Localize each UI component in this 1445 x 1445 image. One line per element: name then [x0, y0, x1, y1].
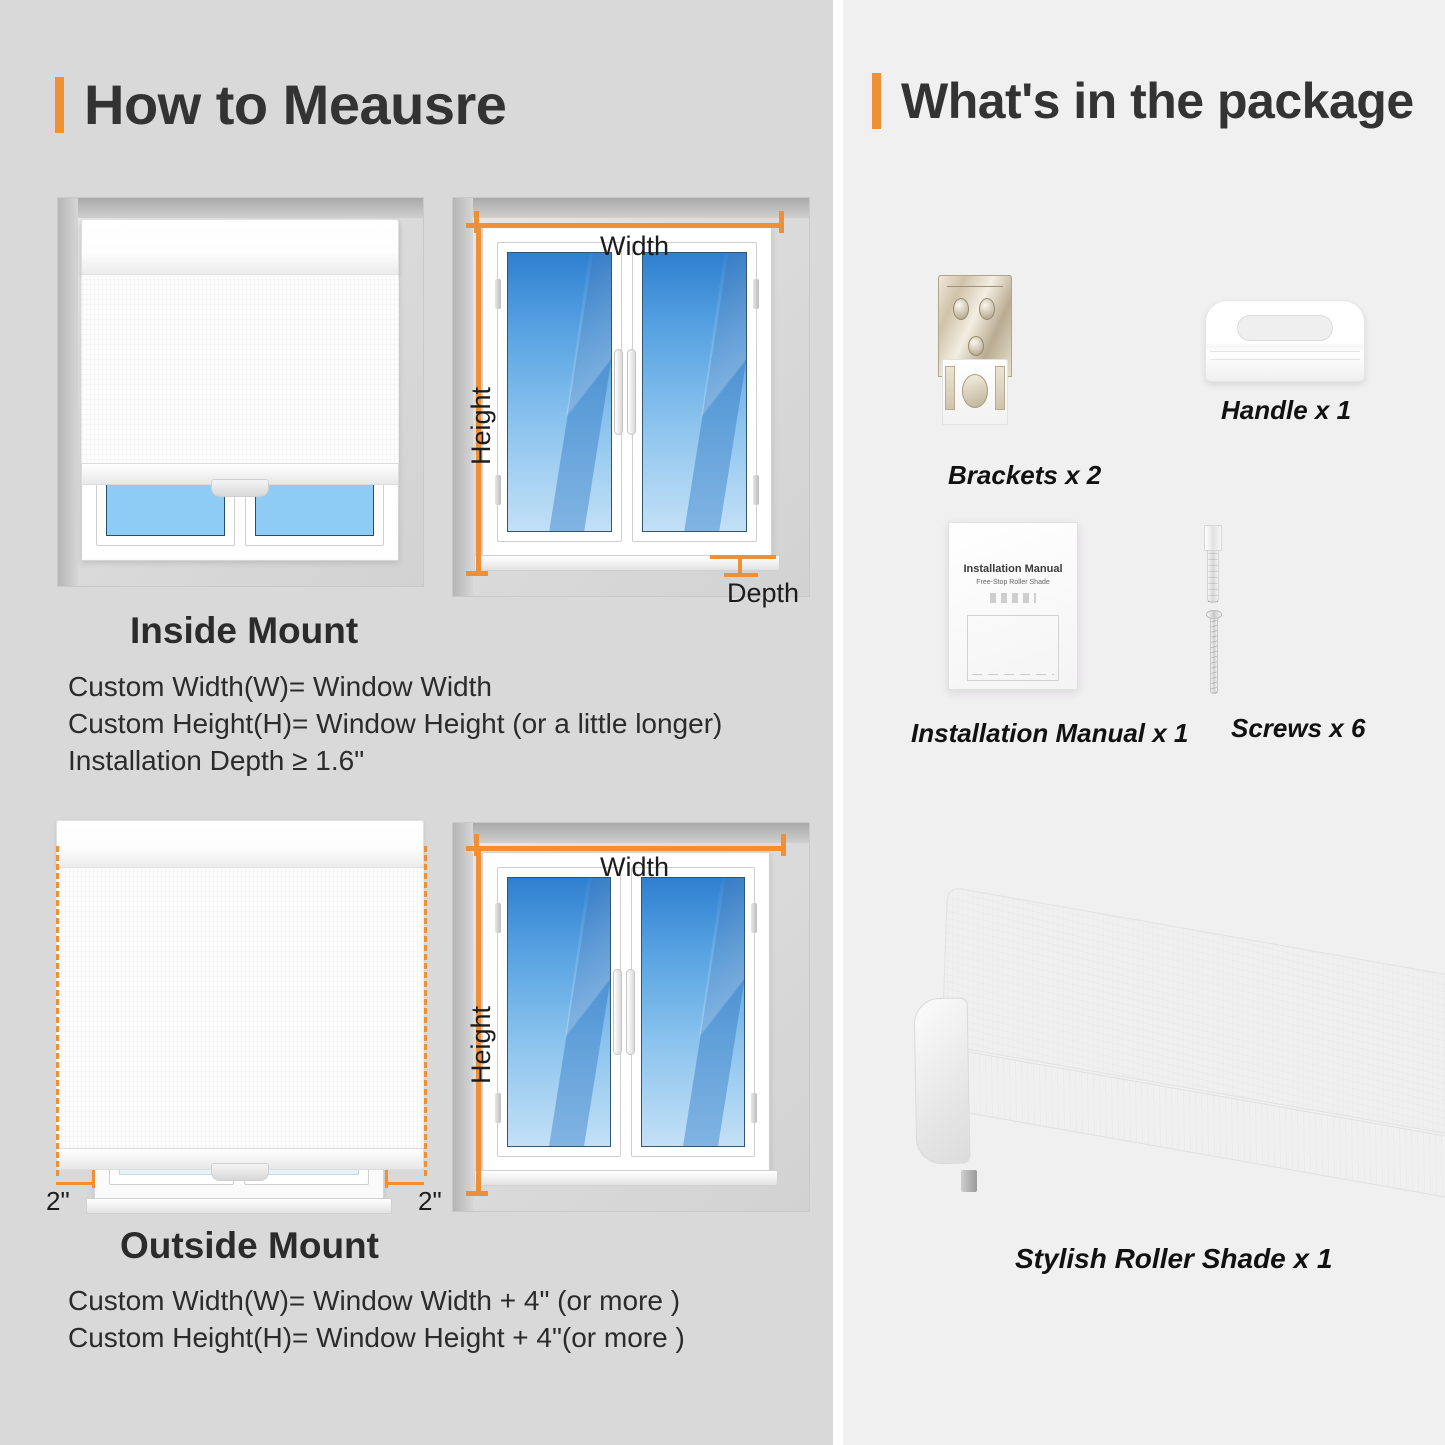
hinge-icon: [753, 279, 759, 309]
measure-glass-right: [642, 252, 747, 532]
anchor-head: [1204, 525, 1222, 551]
screw-icon: [1206, 610, 1222, 694]
brackets-image: [938, 275, 1118, 435]
hinge-icon: [495, 279, 501, 309]
handle-seam: [1210, 351, 1360, 352]
recess-top-shadow: [453, 198, 809, 218]
wall-anchor-icon: [1203, 525, 1223, 603]
manual-scribble: [990, 593, 1036, 603]
width-label: Width: [600, 231, 669, 262]
measure-sash-right: [632, 242, 757, 542]
shade-fabric: [81, 275, 399, 465]
outside-mount-title: Outside Mount: [120, 1225, 379, 1267]
height-cap-bottom: [466, 571, 488, 576]
wall-anchors-group: [1203, 525, 1383, 607]
height-cap-top: [466, 223, 488, 228]
depth-measure-stem: [738, 555, 742, 575]
screw-shaft: [1210, 618, 1218, 694]
heading-right-text: What's in the package: [901, 72, 1414, 130]
overhang-label-right: 2": [418, 1186, 442, 1217]
overhang-tick-right: [385, 1170, 388, 1188]
shade-valance: [56, 820, 424, 868]
measure-glass-left-2: [507, 877, 611, 1147]
width-measure-line-2: [474, 846, 786, 851]
accent-bar-icon: [55, 77, 64, 133]
overhang-label-left: 2": [46, 1186, 70, 1217]
inside-roller-shade: [81, 219, 399, 485]
measure-window-sashes-2: [497, 867, 755, 1157]
roller-shade-metal-pin: [961, 1170, 977, 1192]
overhang-tick-left: [92, 1170, 95, 1188]
roller-shade-product-image: [903, 880, 1445, 1210]
installation-manual-label: Installation Manual x 1: [911, 718, 1188, 749]
bracket-hole: [968, 336, 984, 356]
measure-glass-left: [507, 252, 612, 532]
window-handles: [614, 349, 640, 435]
screws-group: [1206, 610, 1386, 696]
overhang-guide-right: [424, 846, 427, 1176]
screws-label: Screws x 6: [1231, 713, 1365, 744]
manual-cover-title: Installation Manual: [949, 563, 1077, 575]
outside-roller-shade: [56, 820, 424, 1170]
measure-sash-left: [497, 242, 622, 542]
accent-bar-icon: [872, 73, 881, 129]
bracket-rib: [995, 366, 1005, 410]
shade-fabric: [56, 868, 424, 1152]
bracket-hole: [979, 298, 995, 320]
outside-window-sill: [86, 1198, 392, 1214]
recess-top-shadow: [453, 823, 809, 843]
height-cap-top-2: [466, 846, 488, 851]
glass-sheen: [544, 877, 611, 1147]
width-label-2: Width: [600, 852, 669, 883]
window-handle-left-icon: [613, 969, 622, 1055]
installation-manual-icon: Installation Manual Free-Stop Roller Sha…: [948, 522, 1078, 690]
shade-pull-tab[interactable]: [211, 479, 269, 497]
handle-seam: [1210, 359, 1360, 360]
hinge-icon: [753, 475, 759, 505]
overhang-arrow-left: [56, 1182, 94, 1185]
outside-mount-shade-illustration: 2" 2": [40, 812, 440, 1207]
hinge-icon: [751, 903, 757, 933]
roller-shade-label: Stylish Roller Shade x 1: [1015, 1243, 1332, 1275]
hinge-icon: [751, 1093, 757, 1123]
overhang-arrow-right: [386, 1182, 424, 1185]
overhang-guide-left: [56, 846, 59, 1176]
shade-pull-tab[interactable]: [211, 1163, 269, 1181]
hinge-icon: [495, 903, 501, 933]
handle-icon: [1205, 300, 1365, 382]
measure-window-sashes: [497, 242, 757, 542]
glass-sheen: [544, 252, 612, 532]
inside-mount-title: Inside Mount: [130, 610, 358, 652]
manual-diagram-box: [967, 615, 1059, 681]
inside-mount-measure-diagram: Width Height Depth: [452, 197, 810, 597]
height-label: Height: [466, 387, 497, 465]
depth-measure-foot: [724, 573, 758, 577]
infographic-page: How to Meausre: [0, 0, 1445, 1445]
right-panel: What's in the package: [843, 0, 1445, 1445]
measure-sash-right-2: [631, 867, 755, 1157]
recess-top-shadow: [58, 198, 423, 218]
measure-window-frame-2: [482, 852, 770, 1172]
window-handle-right-icon: [627, 349, 636, 435]
glass-sheen: [679, 252, 747, 532]
glass-sheen: [678, 877, 745, 1147]
height-label-2: Height: [466, 1006, 497, 1084]
panel-divider: [833, 0, 843, 1445]
hinge-icon: [495, 1093, 501, 1123]
outside-mount-measure-diagram: Width Height: [452, 822, 810, 1212]
depth-label: Depth: [727, 578, 799, 609]
handle-label: Handle x 1: [1221, 395, 1351, 426]
bracket-hole: [953, 298, 969, 320]
depth-measure-line: [710, 555, 776, 559]
bracket-center-oval: [962, 374, 988, 408]
measure-window-frame: [482, 227, 772, 557]
inside-spec-width: Custom Width(W)= Window Width: [68, 668, 722, 705]
manual-footer-line: [972, 674, 1054, 675]
outside-spec-height: Custom Height(H)= Window Height + 4"(or …: [68, 1319, 685, 1356]
handle-grip-slot: [1237, 315, 1333, 341]
brackets-label: Brackets x 2: [948, 460, 1101, 491]
roller-shade-end-cap: [914, 998, 971, 1165]
window-handle-right-icon: [626, 969, 635, 1055]
inside-mount-shade-illustration: [57, 197, 424, 587]
bracket-plastic-base: [942, 359, 1008, 425]
measure-sash-left-2: [497, 867, 621, 1157]
outside-spec-width: Custom Width(W)= Window Width + 4" (or m…: [68, 1282, 685, 1319]
window-handle-left-icon: [614, 349, 623, 435]
window-sill-2: [474, 1170, 778, 1186]
manual-cover-subtitle: Free-Stop Roller Shade: [949, 579, 1077, 586]
inside-spec-height: Custom Height(H)= Window Height (or a li…: [68, 705, 722, 742]
how-to-measure-heading: How to Meausre: [55, 72, 506, 137]
package-heading: What's in the package: [872, 72, 1414, 130]
hinge-icon: [495, 475, 501, 505]
measure-glass-right-2: [641, 877, 745, 1147]
width-measure-line: [474, 223, 784, 228]
outside-mount-specs: Custom Width(W)= Window Width + 4" (or m…: [68, 1282, 685, 1356]
shade-valance: [81, 219, 399, 275]
width-cap-right: [779, 211, 784, 233]
window-handles-2: [613, 969, 639, 1055]
height-cap-bottom-2: [466, 1191, 488, 1196]
inside-spec-depth: Installation Depth ≥ 1.6": [68, 742, 722, 779]
inside-mount-specs: Custom Width(W)= Window Width Custom Hei…: [68, 668, 722, 779]
bracket-rib: [945, 366, 955, 410]
heading-left-text: How to Meausre: [84, 72, 506, 137]
anchor-body: [1207, 550, 1219, 603]
left-panel: How to Meausre: [0, 0, 833, 1445]
width-cap-right-2: [781, 834, 786, 856]
bracket-icon: [938, 275, 1012, 425]
recess-left-shadow: [58, 198, 78, 586]
